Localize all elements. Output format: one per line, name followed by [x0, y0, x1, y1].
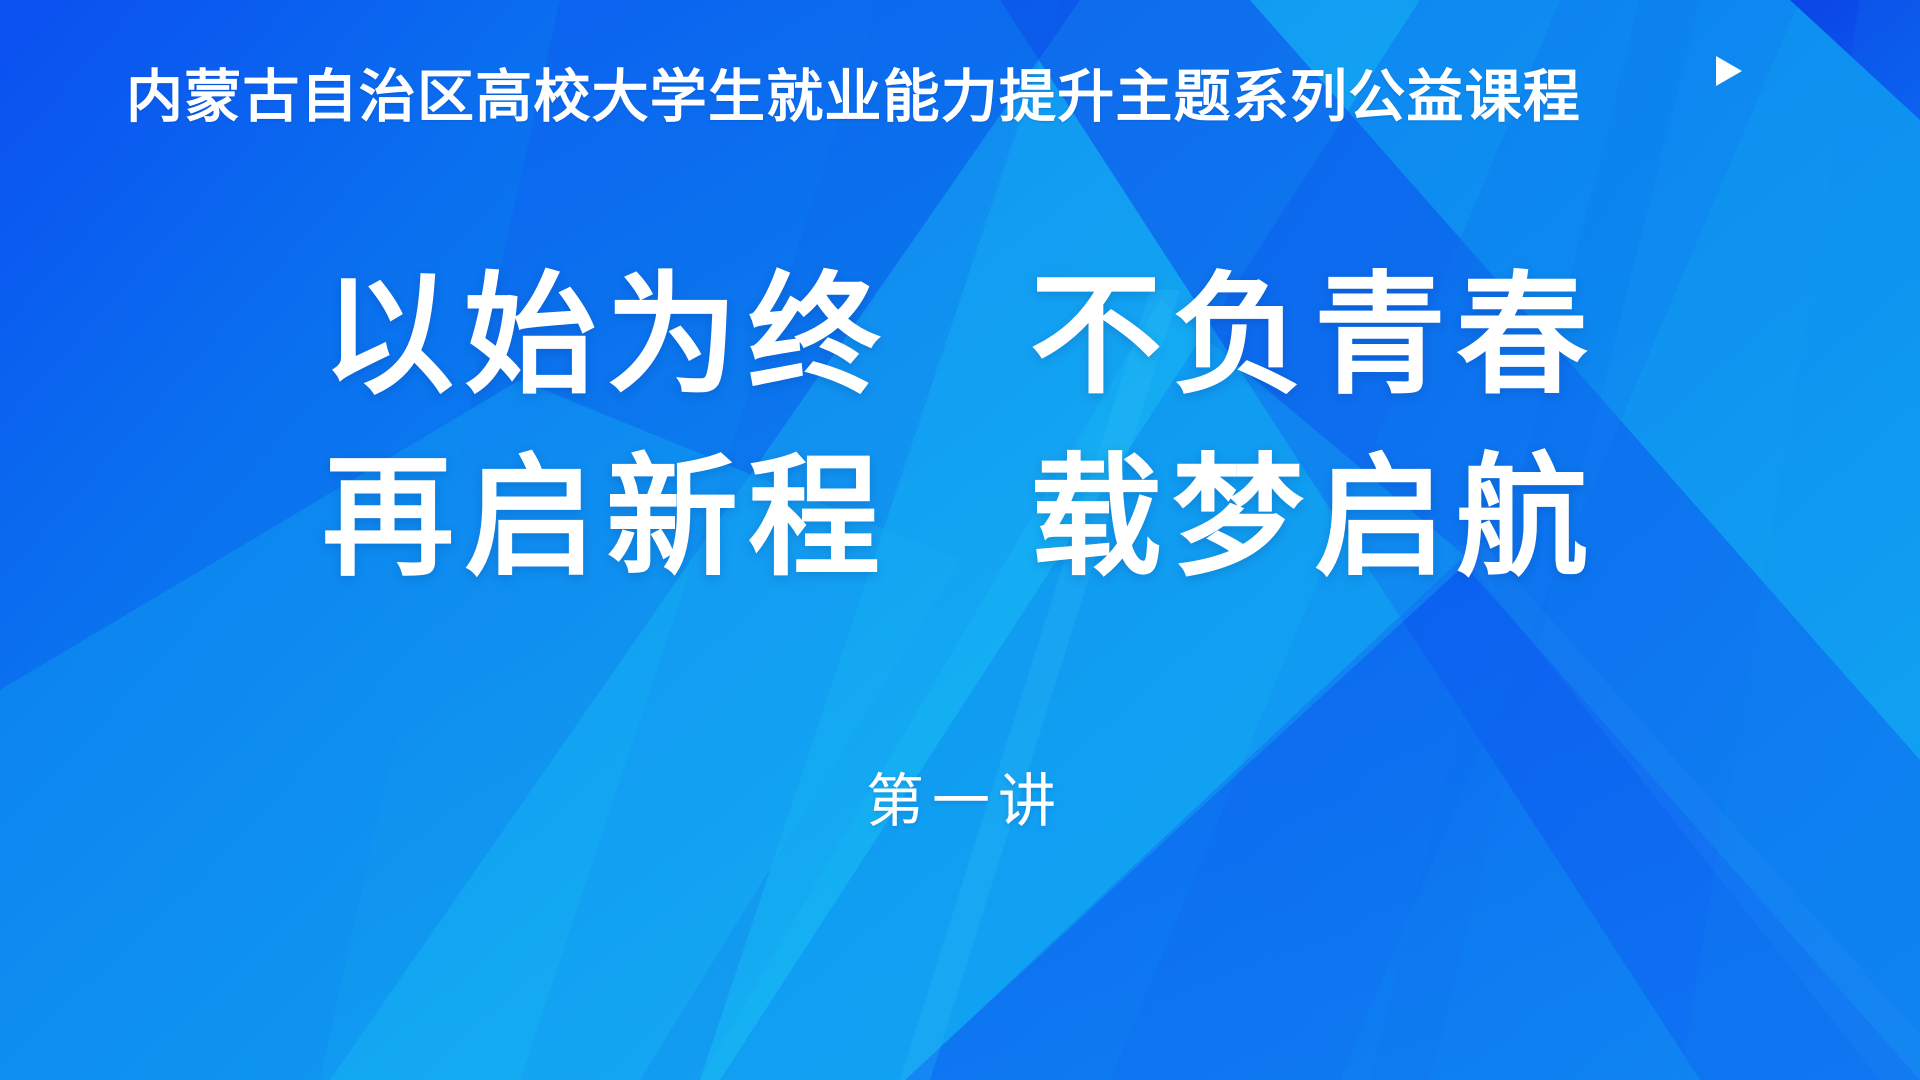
headline-line-1-part-1: 以始为终: [322, 263, 890, 410]
headline-line-1: 以始为终 不负青春: [0, 246, 1920, 428]
page-title: 内蒙古自治区高校大学生就业能力提升主题系列公益课程: [126, 67, 1581, 129]
lecture-number-label: 第一讲: [866, 766, 1064, 838]
headline-line-2: 再启新程 载梦启航: [0, 428, 1920, 610]
header-bar: 内蒙古自治区高校大学生就业能力提升主题系列公益课程: [0, 46, 1920, 150]
play-triangle-icon: [1716, 56, 1742, 86]
subtitle-block: 第一讲: [0, 766, 1920, 838]
headline-line-1-part-2: 不负青春: [1030, 263, 1598, 410]
headline-block: 以始为终 不负青春 再启新程 载梦启航: [0, 246, 1920, 610]
headline-line-2-part-2: 载梦启航: [1030, 445, 1598, 592]
course-cover-slide: 内蒙古自治区高校大学生就业能力提升主题系列公益课程 以始为终 不负青春 再启新程…: [0, 0, 1920, 1080]
headline-line-2-part-1: 再启新程: [322, 445, 890, 592]
